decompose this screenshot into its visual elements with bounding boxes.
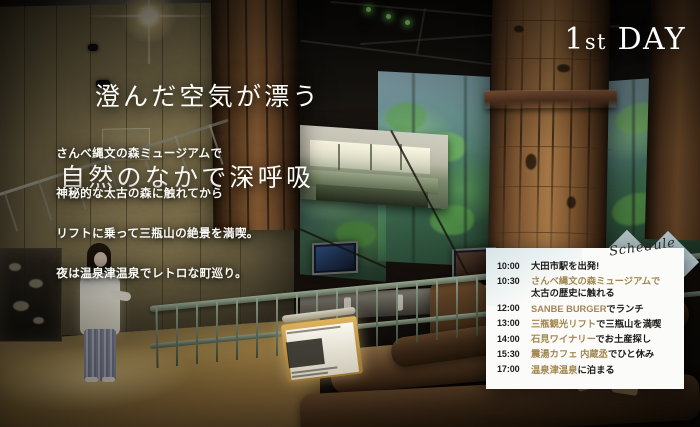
day-word: DAY: [618, 22, 686, 57]
schedule-row: 17:00温泉津温泉に泊まる: [497, 364, 676, 376]
schedule-detail: 三瓶観光リフトで三瓶山を満喫: [531, 318, 661, 330]
schedule-time: 15:30: [497, 348, 531, 360]
lede-line-4: 夜は温泉津温泉でレトロな町巡り。: [56, 267, 247, 280]
schedule-detail: さんべ縄文の森ミュージアムで太古の歴史に触れる: [531, 275, 660, 299]
schedule-detail-highlight: 震湯カフェ 内蔵丞: [531, 349, 608, 359]
schedule-detail-highlight: さんべ縄文の森ミュージアムで: [531, 276, 660, 286]
schedule-detail-highlight: 温泉津温泉: [531, 365, 578, 375]
schedule-time: 12:00: [497, 303, 531, 315]
schedule-time: 13:00: [497, 318, 531, 330]
schedule-detail-highlight: 三瓶観光リフト: [531, 319, 596, 329]
day-number: 1: [564, 22, 584, 57]
headline-line-1: 澄んだ空気が漂う: [95, 82, 321, 111]
schedule-detail: 石見ワイナリーでお土産探し: [531, 333, 651, 345]
intro-paragraph: さんべ縄文の森ミュージアムで 神秘的な太古の森に触れてから リフトに乗って三瓶山…: [42, 124, 259, 303]
schedule-detail: 大田市駅を出発!: [531, 260, 599, 272]
schedule-detail-sub: 太古の歴史に触れる: [531, 287, 660, 299]
trunk-metal-band: [485, 89, 617, 108]
schedule-time: 14:00: [497, 333, 531, 345]
exhibit-info-placard: [281, 313, 366, 384]
hero-banner: 澄んだ空気が漂う 自然のなかで深呼吸 さんべ縄文の森ミュージアムで 神秘的な太古…: [0, 0, 700, 427]
schedule-detail: SANBE BURGERでランチ: [531, 303, 644, 315]
schedule-detail-rest: に泊まる: [578, 365, 615, 375]
day-ordinal-suffix: st: [585, 30, 607, 54]
schedule-card: Schedule 10:00大田市駅を出発!10:30さんべ縄文の森ミュージアム…: [486, 248, 684, 389]
schedule-row: 13:00三瓶観光リフトで三瓶山を満喫: [497, 318, 676, 330]
schedule-detail-rest: でランチ: [606, 304, 643, 314]
schedule-row: 10:00大田市駅を出発!: [497, 260, 676, 272]
schedule-list: 10:00大田市駅を出発!10:30さんべ縄文の森ミュージアムで太古の歴史に触れ…: [497, 260, 676, 379]
schedule-time: 10:30: [497, 275, 531, 287]
schedule-detail-rest: 大田市駅を出発!: [531, 261, 599, 271]
lede-line-2: 神秘的な太古の森に触れてから: [56, 187, 223, 200]
schedule-row: 15:30震湯カフェ 内蔵丞でひと休み: [497, 348, 676, 360]
schedule-row: 14:00石見ワイナリーでお土産探し: [497, 333, 676, 345]
schedule-detail: 温泉津温泉に泊まる: [531, 364, 615, 376]
schedule-detail-highlight: SANBE BURGER: [531, 304, 606, 314]
schedule-detail-rest: でお土産探し: [595, 334, 651, 344]
lede-line-3: リフトに乗って三瓶山の絶景を満喫。: [56, 227, 258, 240]
schedule-detail: 震湯カフェ 内蔵丞でひと休み: [531, 348, 654, 360]
schedule-detail-rest: で三瓶山を満喫: [596, 319, 661, 329]
lede-line-1: さんべ縄文の森ミュージアムで: [56, 147, 222, 160]
schedule-row: 12:00SANBE BURGERでランチ: [497, 303, 676, 315]
day-label: 1st DAY: [564, 22, 686, 57]
schedule-detail-highlight: 石見ワイナリー: [531, 334, 595, 344]
schedule-time: 17:00: [497, 364, 531, 376]
schedule-row: 10:30さんべ縄文の森ミュージアムで太古の歴史に触れる: [497, 275, 676, 299]
schedule-time: 10:00: [497, 260, 531, 272]
schedule-detail-rest: でひと休み: [608, 349, 654, 359]
